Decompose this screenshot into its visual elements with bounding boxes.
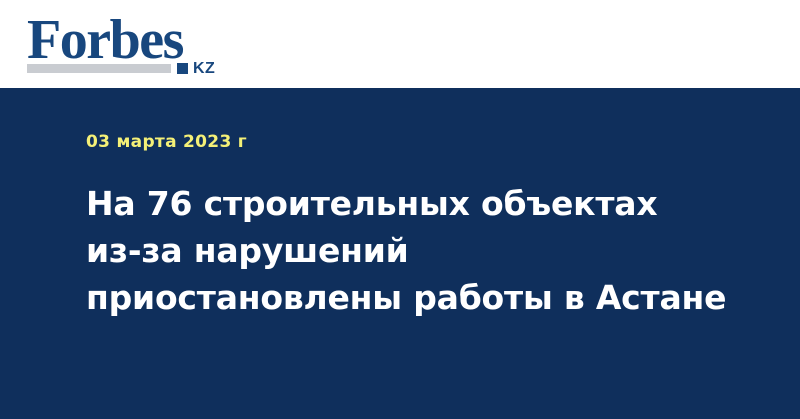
- headline-line-3: приостановлены работы в Астане: [86, 274, 746, 321]
- logo-country-suffix: KZ: [193, 60, 215, 77]
- logo-wordmark: Forbes: [27, 10, 183, 70]
- forbes-kz-logo[interactable]: Forbes KZ: [27, 12, 227, 78]
- headline-line-2: из-за нарушений: [86, 227, 746, 274]
- headline-line-1: На 76 строительных объектах: [86, 180, 746, 227]
- article-card: Forbes KZ 03 марта 2023 г На 76 строител…: [0, 0, 800, 419]
- logo-square-icon: [177, 63, 188, 74]
- logo-underline-bar: [27, 64, 171, 73]
- site-header: Forbes KZ: [0, 0, 800, 88]
- article-body: 03 марта 2023 г На 76 строительных объек…: [0, 88, 800, 419]
- article-date: 03 марта 2023 г: [86, 132, 247, 152]
- article-headline: На 76 строительных объектах из-за наруше…: [86, 180, 746, 321]
